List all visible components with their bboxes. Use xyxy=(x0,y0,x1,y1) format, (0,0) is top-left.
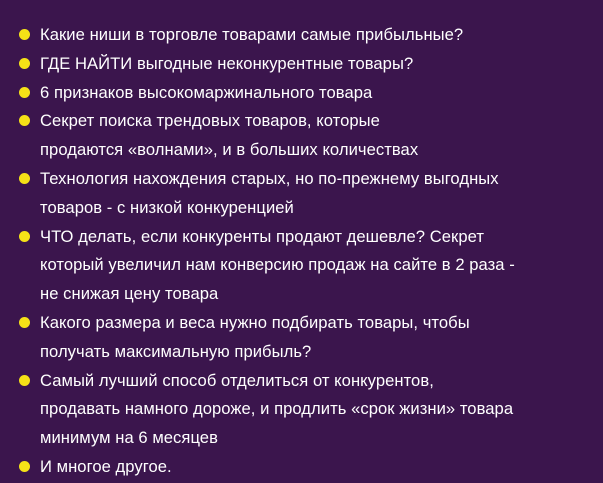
filled-circle-bullet-icon xyxy=(19,375,30,386)
filled-circle-bullet-icon xyxy=(19,29,30,40)
list-item-text: ГДЕ НАЙТИ выгодные неконкурентные товары… xyxy=(40,50,593,79)
list-item: 6 признаков высокомаржинального товара xyxy=(19,79,593,108)
slide-container: Какие ниши в торговле товарами самые при… xyxy=(0,0,603,483)
list-item: Секрет поиска трендовых товаров, которые… xyxy=(19,107,593,165)
list-item-text: Какого размера и веса нужно подбирать то… xyxy=(40,309,593,367)
list-item: Технология нахождения старых, но по-преж… xyxy=(19,165,593,223)
filled-circle-bullet-icon xyxy=(19,173,30,184)
list-item: Какого размера и веса нужно подбирать то… xyxy=(19,309,593,367)
list-item-text: Какие ниши в торговле товарами самые при… xyxy=(40,21,593,50)
list-item-text: ЧТО делать, если конкуренты продают деше… xyxy=(40,223,593,309)
list-item: Самый лучший способ отделиться от конкур… xyxy=(19,367,593,453)
filled-circle-bullet-icon xyxy=(19,317,30,328)
list-item-text: 6 признаков высокомаржинального товара xyxy=(40,79,593,108)
filled-circle-bullet-icon xyxy=(19,87,30,98)
list-item: ГДЕ НАЙТИ выгодные неконкурентные товары… xyxy=(19,50,593,79)
list-item-text: Секрет поиска трендовых товаров, которые… xyxy=(40,107,593,165)
filled-circle-bullet-icon xyxy=(19,115,30,126)
list-item: ЧТО делать, если конкуренты продают деше… xyxy=(19,223,593,309)
filled-circle-bullet-icon xyxy=(19,461,30,472)
filled-circle-bullet-icon xyxy=(19,231,30,242)
list-item: И многое другое. xyxy=(19,453,593,482)
filled-circle-bullet-icon xyxy=(19,58,30,69)
benefits-bullet-list: Какие ниши в торговле товарами самые при… xyxy=(19,21,593,482)
list-item-text: Технология нахождения старых, но по-преж… xyxy=(40,165,593,223)
list-item-text: И многое другое. xyxy=(40,453,593,482)
list-item-text: Самый лучший способ отделиться от конкур… xyxy=(40,367,593,453)
list-item: Какие ниши в торговле товарами самые при… xyxy=(19,21,593,50)
